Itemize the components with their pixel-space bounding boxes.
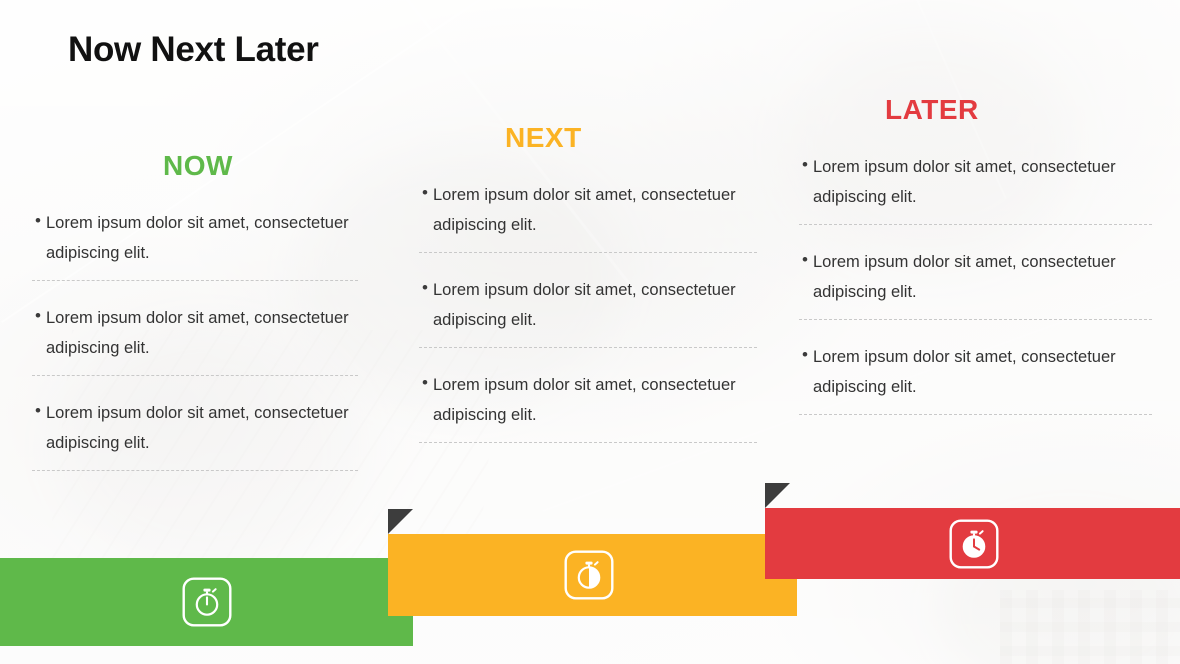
banner-next[interactable] — [388, 534, 797, 616]
column-heading-next: NEXT — [405, 122, 765, 154]
column-heading-now: NOW — [18, 150, 378, 182]
list-divider — [419, 252, 757, 253]
column-heading-later: LATER — [785, 94, 1160, 126]
column-now: NOW • Lorem ipsum dolor sit amet, consec… — [18, 150, 378, 493]
list-item: • Lorem ipsum dolor sit amet, consectetu… — [18, 303, 378, 363]
bullet-marker-icon: • — [417, 275, 433, 301]
list-divider — [419, 442, 757, 443]
list-item: • Lorem ipsum dolor sit amet, consectetu… — [405, 275, 765, 335]
list-item-text: Lorem ipsum dolor sit amet, consectetuer… — [433, 275, 757, 335]
list-divider — [32, 375, 358, 376]
list-item: • Lorem ipsum dolor sit amet, consectetu… — [785, 152, 1160, 212]
stopwatch-full-icon — [949, 519, 999, 569]
bullet-marker-icon: • — [30, 303, 46, 329]
bullet-marker-icon: • — [417, 180, 433, 206]
column-next: NEXT • Lorem ipsum dolor sit amet, conse… — [405, 122, 765, 465]
list-divider — [32, 470, 358, 471]
list-item-text: Lorem ipsum dolor sit amet, consectetuer… — [813, 247, 1152, 307]
list-item-text: Lorem ipsum dolor sit amet, consectetuer… — [433, 180, 757, 240]
bullet-marker-icon: • — [30, 208, 46, 234]
bullet-marker-icon: • — [797, 152, 813, 178]
list-item: • Lorem ipsum dolor sit amet, consectetu… — [18, 398, 378, 458]
list-item: • Lorem ipsum dolor sit amet, consectetu… — [785, 342, 1160, 402]
list-divider — [799, 414, 1152, 415]
list-item: • Lorem ipsum dolor sit amet, consectetu… — [785, 247, 1160, 307]
bullet-marker-icon: • — [30, 398, 46, 424]
banner-now[interactable] — [0, 558, 413, 646]
list-item-text: Lorem ipsum dolor sit amet, consectetuer… — [46, 398, 370, 458]
bullet-marker-icon: • — [797, 342, 813, 368]
list-item: • Lorem ipsum dolor sit amet, consectetu… — [405, 370, 765, 430]
list-divider — [799, 319, 1152, 320]
list-item-text: Lorem ipsum dolor sit amet, consectetuer… — [813, 152, 1152, 212]
list-divider — [419, 347, 757, 348]
list-item: • Lorem ipsum dolor sit amet, consectetu… — [405, 180, 765, 240]
corner-fold-icon — [388, 509, 413, 534]
corner-fold-icon — [765, 483, 790, 508]
stopwatch-half-icon — [564, 550, 614, 600]
page-title: Now Next Later — [68, 30, 319, 70]
list-divider — [32, 280, 358, 281]
list-item-text: Lorem ipsum dolor sit amet, consectetuer… — [433, 370, 757, 430]
background-keyboard-texture — [1000, 590, 1180, 664]
banner-later[interactable] — [765, 508, 1180, 579]
list-item-text: Lorem ipsum dolor sit amet, consectetuer… — [46, 303, 370, 363]
bullet-marker-icon: • — [797, 247, 813, 273]
list-item: • Lorem ipsum dolor sit amet, consectetu… — [18, 208, 378, 268]
list-item-text: Lorem ipsum dolor sit amet, consectetuer… — [46, 208, 370, 268]
list-item-text: Lorem ipsum dolor sit amet, consectetuer… — [813, 342, 1152, 402]
list-divider — [799, 224, 1152, 225]
column-later: LATER • Lorem ipsum dolor sit amet, cons… — [785, 94, 1160, 437]
bullet-marker-icon: • — [417, 370, 433, 396]
stopwatch-empty-icon — [182, 577, 232, 627]
